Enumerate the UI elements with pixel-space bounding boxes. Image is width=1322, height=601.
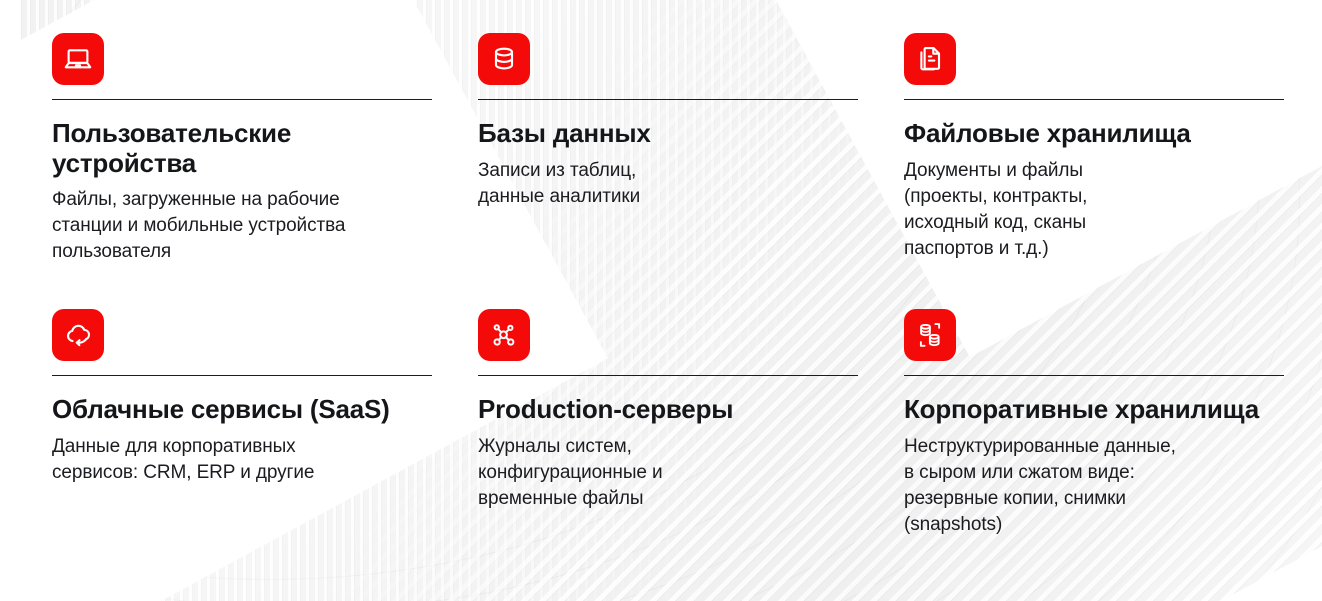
card-description: Неструктурированные данные, в сыром или … bbox=[904, 434, 1284, 538]
card-description: Данные для корпоративных сервисов: CRM, … bbox=[52, 434, 432, 486]
card-description: Файлы, загруженные на рабочие станции и … bbox=[52, 187, 432, 265]
document-copy-icon bbox=[904, 33, 956, 85]
card-title: Облачные сервисы (SaaS) bbox=[52, 395, 432, 425]
cloud-download-icon bbox=[52, 309, 104, 361]
card-divider bbox=[52, 375, 432, 376]
card-title: Пользовательские устройства bbox=[52, 119, 432, 178]
card-title: Production-серверы bbox=[478, 395, 858, 425]
card-file-storages: Файловые хранилища Документы и файлы (пр… bbox=[904, 33, 1284, 265]
card-description: Документы и файлы (проекты, контракты, и… bbox=[904, 158, 1284, 262]
database-stack-icon bbox=[904, 309, 956, 361]
card-divider bbox=[52, 99, 432, 100]
card-user-devices: Пользовательские устройства Файлы, загру… bbox=[52, 33, 432, 265]
card-divider bbox=[478, 375, 858, 376]
card-divider bbox=[478, 99, 858, 100]
card-description: Журналы систем, конфигурационные и време… bbox=[478, 434, 858, 512]
card-production-servers: Production-серверы Журналы систем, конфи… bbox=[478, 309, 858, 538]
card-divider bbox=[904, 99, 1284, 100]
card-grid: Пользовательские устройства Файлы, загру… bbox=[52, 33, 1300, 538]
card-corporate-storages: Корпоративные хранилища Неструктурирован… bbox=[904, 309, 1284, 538]
laptop-icon bbox=[52, 33, 104, 85]
network-nodes-icon bbox=[478, 309, 530, 361]
card-title: Корпоративные хранилища bbox=[904, 395, 1284, 425]
white-wedge-far-left bbox=[0, 0, 20, 601]
card-databases: Базы данных Записи из таблиц, данные ана… bbox=[478, 33, 858, 265]
database-icon bbox=[478, 33, 530, 85]
infographic-canvas: Пользовательские устройства Файлы, загру… bbox=[0, 0, 1322, 601]
card-description: Записи из таблиц, данные аналитики bbox=[478, 158, 858, 210]
card-title: Базы данных bbox=[478, 119, 858, 149]
card-divider bbox=[904, 375, 1284, 376]
card-cloud-services: Облачные сервисы (SaaS) Данные для корпо… bbox=[52, 309, 432, 538]
card-title: Файловые хранилища bbox=[904, 119, 1284, 149]
